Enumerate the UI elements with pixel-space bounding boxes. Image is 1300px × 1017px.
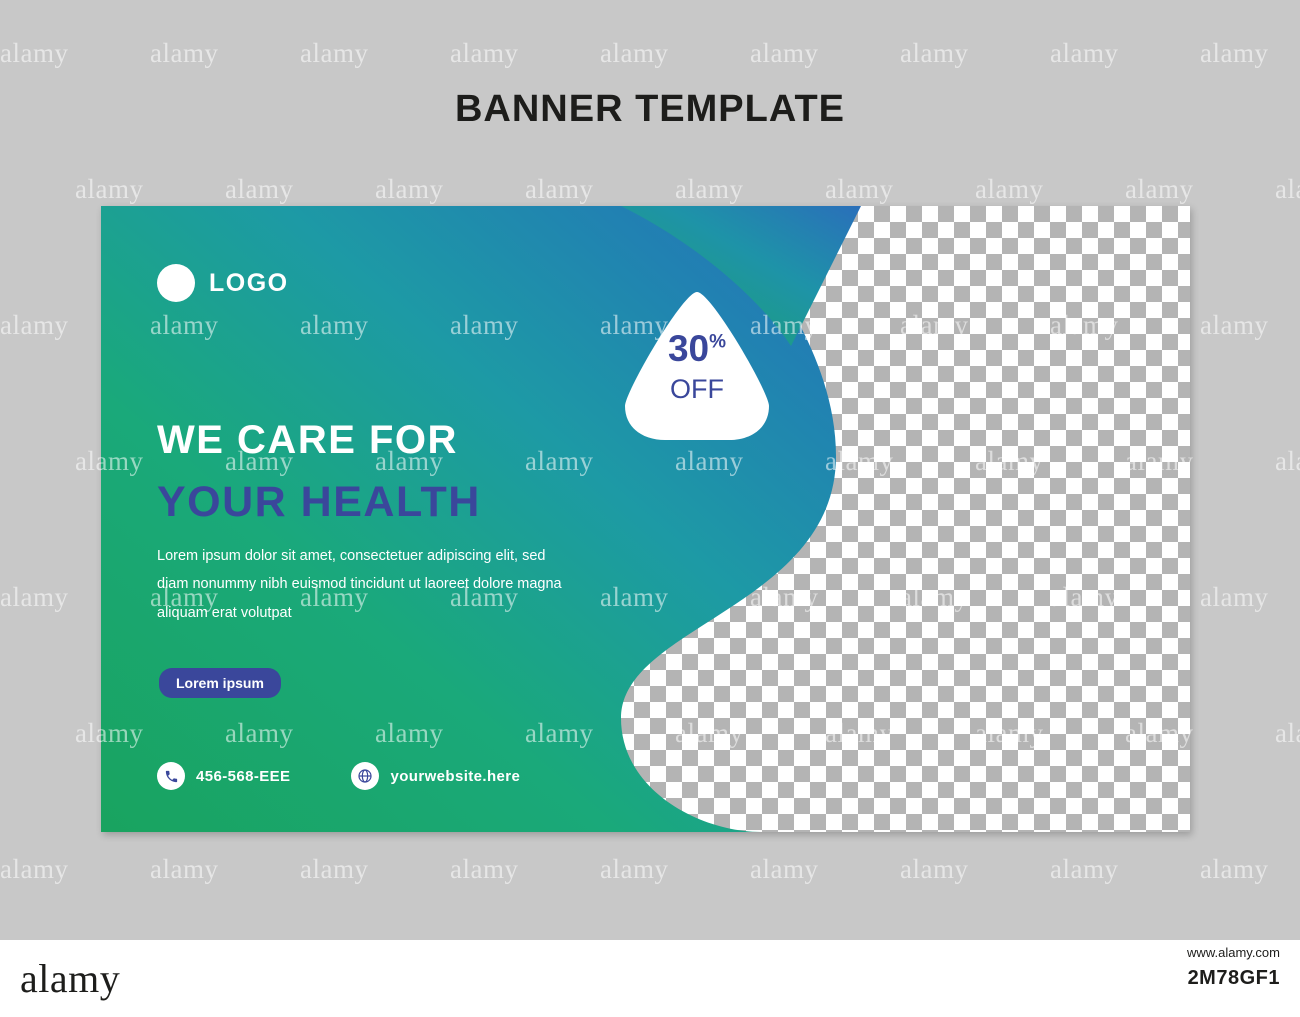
watermark-text: alamy [75, 174, 143, 205]
alamy-url: www.alamy.com [1187, 945, 1280, 960]
watermark-text: alamy [1275, 446, 1300, 477]
watermark-text: alamy [1200, 582, 1268, 613]
contact-website[interactable]: yourwebsite.here [351, 762, 520, 790]
headline-secondary: YOUR HEALTH [157, 478, 481, 527]
watermark-text: alamy [0, 582, 68, 613]
body-copy: Lorem ipsum dolor sit amet, consectetuer… [157, 542, 577, 627]
watermark-text: alamy [1200, 310, 1268, 341]
watermark-text: alamy [1050, 854, 1118, 885]
watermark-text: alamy [150, 38, 218, 69]
watermark-text: alamy [300, 38, 368, 69]
watermark-text: alamy [600, 38, 668, 69]
watermark-text: alamy [300, 854, 368, 885]
image-id: 2M78GF1 [1188, 967, 1280, 990]
discount-value: 30 [668, 328, 709, 369]
watermark-text: alamy [1050, 38, 1118, 69]
watermark-text: alamy [0, 310, 68, 341]
discount-off-label: OFF [619, 376, 775, 403]
logo-text: LOGO [209, 269, 289, 298]
watermark-text: alamy [1200, 854, 1268, 885]
contact-phone[interactable]: 456-568-EEE [157, 762, 290, 790]
website-text: yourwebsite.here [390, 768, 520, 785]
logo: LOGO [157, 264, 289, 302]
watermark-text: alamy [750, 38, 818, 69]
contact-row: 456-568-EEE yourwebsite.here [157, 762, 520, 790]
discount-badge: 30% OFF [619, 288, 775, 444]
watermark-text: alamy [225, 174, 293, 205]
watermark-text: alamy [675, 174, 743, 205]
watermark-text: alamy [750, 854, 818, 885]
watermark-text: alamy [525, 174, 593, 205]
watermark-text: alamy [150, 854, 218, 885]
watermark-text: alamy [825, 174, 893, 205]
watermark-text: alamy [0, 854, 68, 885]
watermark-text: alamy [1125, 174, 1193, 205]
watermark-text: alamy [1275, 174, 1300, 205]
watermark-text: alamy [900, 854, 968, 885]
alamy-logo: alamy [20, 955, 120, 1002]
discount-number: 30% [619, 330, 775, 367]
watermark-text: alamy [450, 38, 518, 69]
discount-percent-symbol: % [709, 332, 726, 353]
watermark-text: alamy [1275, 718, 1300, 749]
watermark-text: alamy [0, 38, 68, 69]
phone-text: 456-568-EEE [196, 768, 290, 785]
watermark-text: alamy [975, 174, 1043, 205]
watermark-text: alamy [450, 854, 518, 885]
cta-button[interactable]: Lorem ipsum [159, 668, 281, 698]
watermark-text: alamy [375, 174, 443, 205]
circle-logo-mark-icon [157, 264, 195, 302]
banner-artwork: LOGO WE CARE FOR YOUR HEALTH Lorem ipsum… [101, 206, 1190, 832]
watermark-text: alamy [600, 854, 668, 885]
watermark-text: alamy [1200, 38, 1268, 69]
page-title: BANNER TEMPLATE [0, 88, 1300, 131]
watermark-text: alamy [900, 38, 968, 69]
headline-primary: WE CARE FOR [157, 418, 458, 463]
footer-bar: alamy www.alamy.com 2M78GF1 [0, 940, 1300, 1017]
phone-icon [157, 762, 185, 790]
globe-icon [351, 762, 379, 790]
